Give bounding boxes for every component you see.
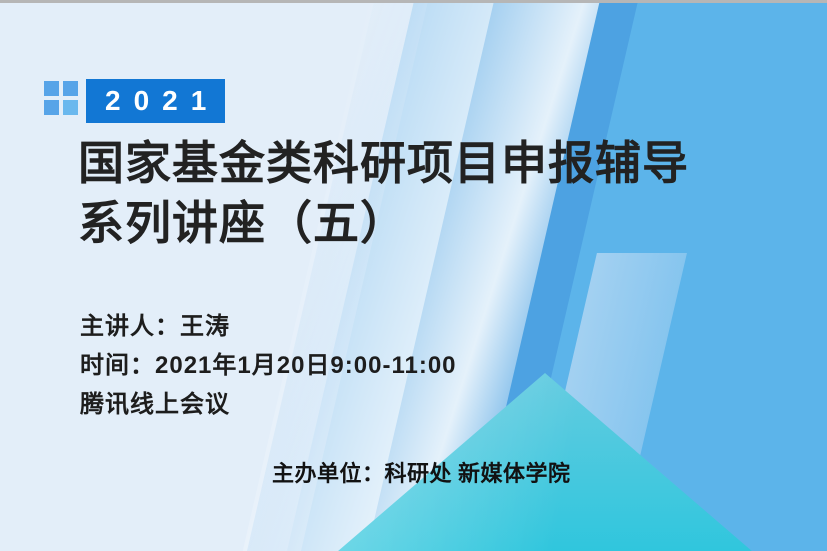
grid-square-bottom-right bbox=[63, 100, 78, 115]
grid-square-bottom-left bbox=[44, 100, 59, 115]
page-title-line-2: 系列讲座（五） bbox=[78, 194, 778, 254]
grid-squares-icon bbox=[44, 81, 78, 121]
grid-square-top-right bbox=[63, 81, 78, 96]
grid-square-top-left bbox=[44, 81, 59, 96]
year-header: 2021 bbox=[44, 79, 225, 123]
time-line: 时间：2021年1月20日9:00-11:00 bbox=[80, 347, 457, 386]
page-title: 国家基金类科研项目申报辅导 系列讲座（五） bbox=[78, 134, 778, 254]
event-poster: 2021 国家基金类科研项目申报辅导 系列讲座（五） 主讲人：王涛 时间：202… bbox=[0, 0, 827, 551]
background-band-pale-lower bbox=[523, 253, 687, 551]
year-badge: 2021 bbox=[86, 79, 225, 123]
speaker-line: 主讲人：王涛 bbox=[80, 308, 457, 347]
venue-line: 腾讯线上会议 bbox=[80, 386, 457, 425]
page-title-line-1: 国家基金类科研项目申报辅导 bbox=[78, 134, 778, 194]
event-details: 主讲人：王涛 时间：2021年1月20日9:00-11:00 腾讯线上会议 bbox=[80, 308, 457, 425]
organizer-line: 主办单位：科研处 新媒体学院 bbox=[272, 456, 571, 488]
